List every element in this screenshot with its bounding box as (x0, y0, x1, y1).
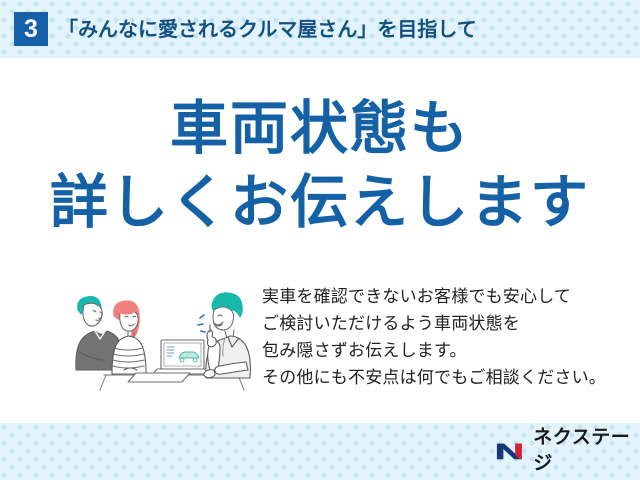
body-copy-line-4: その他にも不安点は何でもご相談ください。 (262, 364, 612, 391)
header-title: 「みんなに愛されるクルマ屋さん」を目指して (58, 13, 477, 47)
brand-logo: ネクステージ (496, 438, 640, 464)
n-logo-icon (496, 439, 527, 463)
step-number-badge: 3 (14, 12, 48, 46)
body-copy: 実車を確認できないお客様でも安心して ご検討いただけるよう車両状態を 包み隠さず… (262, 283, 612, 391)
body-copy-line-2: ご検討いただけるよう車両状態を (262, 310, 612, 337)
advertisement-banner: 3 「みんなに愛されるクルマ屋さん」を目指して 車両状態も 詳しくお伝えします (0, 0, 640, 480)
headline-line-1: 車両状態も (0, 92, 640, 166)
brand-name: ネクステージ (533, 425, 640, 477)
consultation-illustration (62, 278, 260, 396)
headline-line-2: 詳しくお伝えします (0, 166, 640, 240)
body-copy-line-1: 実車を確認できないお客様でも安心して (262, 283, 612, 310)
body-copy-line-3: 包み隠さずお伝えします。 (262, 337, 612, 364)
consultation-illustration-svg (62, 278, 260, 396)
headline: 車両状態も 詳しくお伝えします (0, 92, 640, 240)
